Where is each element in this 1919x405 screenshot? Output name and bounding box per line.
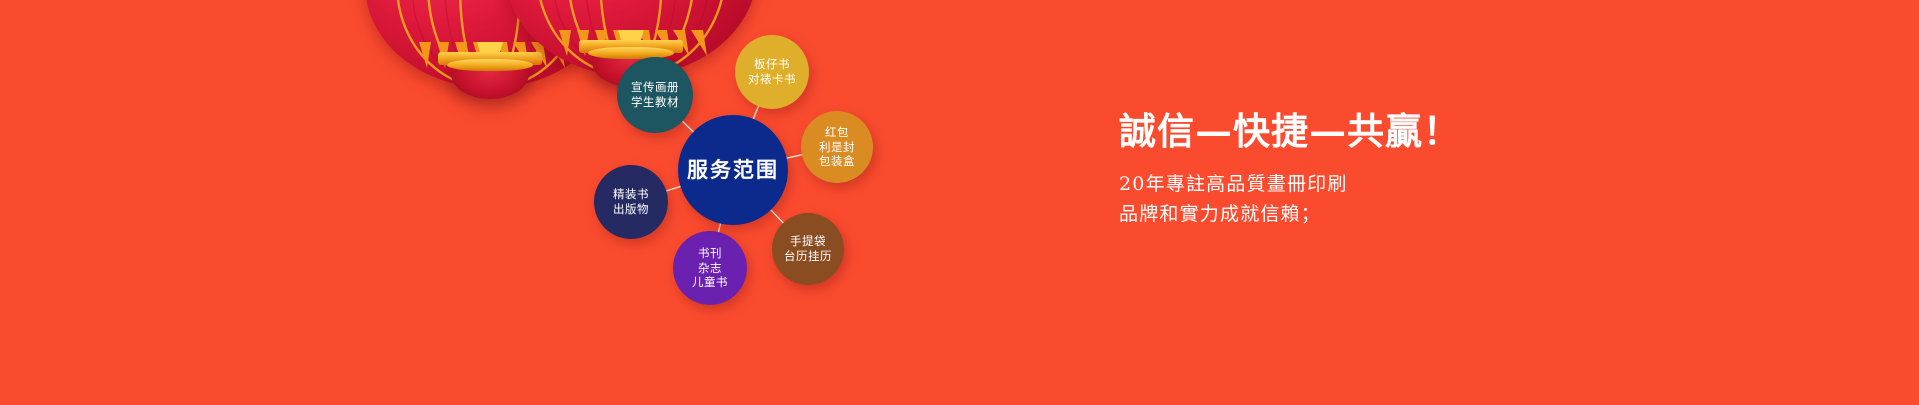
- promo-banner: 宣传画册 学生教材 板仔书 对裱卡书 红包 利是封 包装盒 手提袋 台历挂历 书…: [0, 0, 1919, 405]
- bubble-line: 板仔书: [754, 57, 790, 72]
- bubble-line: 精装书: [613, 187, 649, 202]
- slogan-block: 誠信—快捷—共贏！ 20年專註高品質畫冊印刷 品牌和實力成就信賴；: [1119, 110, 1719, 229]
- subheadline-group: 20年專註高品質畫冊印刷 品牌和實力成就信賴；: [1119, 169, 1719, 229]
- bubble-center-label: 服务范围: [687, 157, 779, 184]
- bubble-line: 宣传画册: [631, 80, 679, 95]
- bubble-hardcover-publications[interactable]: 精装书 出版物: [594, 165, 668, 239]
- bubble-line: 包装盒: [819, 154, 855, 169]
- bubble-line: 学生教材: [631, 95, 679, 110]
- bubble-line: 利是封: [819, 140, 855, 155]
- subheadline-line-2: 品牌和實力成就信賴；: [1119, 199, 1719, 229]
- bubble-line: 儿童书: [692, 275, 728, 290]
- bubble-line: 台历挂历: [784, 249, 832, 264]
- bubble-promo-albums[interactable]: 宣传画册 学生教材: [617, 57, 693, 133]
- headline: 誠信—快捷—共贏！: [1119, 110, 1719, 153]
- bubble-service-scope[interactable]: 服务范围: [678, 115, 788, 225]
- bubble-line: 出版物: [613, 202, 649, 217]
- bubble-line: 杂志: [698, 261, 722, 276]
- bubble-line: 书刊: [698, 246, 722, 261]
- bubble-line: 手提袋: [790, 234, 826, 249]
- bubble-board-books[interactable]: 板仔书 对裱卡书: [735, 35, 809, 109]
- service-scope-diagram: 宣传画册 学生教材 板仔书 对裱卡书 红包 利是封 包装盒 手提袋 台历挂历 书…: [560, 0, 1120, 405]
- bubble-magazines[interactable]: 书刊 杂志 儿童书: [673, 231, 747, 305]
- bubble-red-packets[interactable]: 红包 利是封 包装盒: [801, 111, 873, 183]
- bubble-handbags-calendars[interactable]: 手提袋 台历挂历: [772, 213, 844, 285]
- bubble-line: 红包: [825, 125, 849, 140]
- bubble-line: 对裱卡书: [748, 72, 796, 87]
- subheadline-line-1: 20年專註高品質畫冊印刷: [1119, 169, 1719, 199]
